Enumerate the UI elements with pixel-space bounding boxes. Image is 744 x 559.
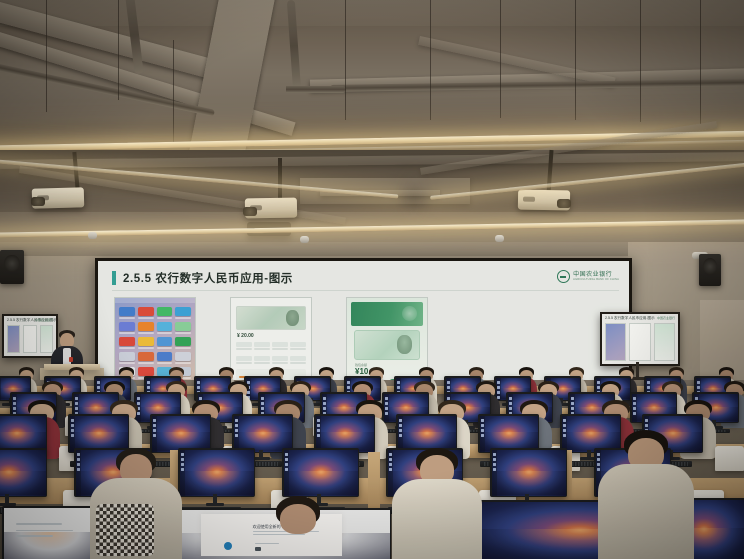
patterned-bag (96, 504, 154, 556)
monitor-screen (152, 416, 210, 452)
taskbar-icon[interactable] (71, 434, 74, 437)
taskbar-icon[interactable] (563, 429, 566, 432)
taskbar-icon[interactable] (447, 386, 450, 389)
taskbar[interactable] (0, 378, 1, 400)
taskbar-icon[interactable] (399, 424, 402, 427)
slide-title: 2.5.5 农行数字人民币应用-图示 (123, 270, 293, 286)
taskbar-icon[interactable] (509, 407, 512, 410)
taskbar-icon[interactable] (509, 397, 512, 400)
app-icon-8[interactable] (119, 337, 135, 349)
student-monitor[interactable] (0, 448, 47, 497)
bank-logo: 中国农业银行 AGRICULTURAL BANK OF CHINA (557, 270, 619, 283)
monitor-screen (398, 416, 456, 452)
taskbar-icon[interactable] (563, 419, 566, 422)
wallet-action-row (231, 339, 311, 353)
slide-divider (112, 290, 619, 291)
slide-header: 2.5.5 农行数字人民币应用-图示 (112, 269, 619, 287)
taskbar-icon[interactable] (493, 468, 496, 471)
taskbar[interactable] (316, 416, 321, 452)
taskbar-icon[interactable] (13, 397, 16, 400)
ceiling-spotlight (88, 232, 97, 239)
taskbar-icon[interactable] (399, 419, 402, 422)
monitor-screen (180, 450, 254, 496)
taskbar-icon[interactable] (481, 419, 484, 422)
monitor-screen (4, 508, 96, 559)
taskbar[interactable] (398, 416, 403, 452)
classroom-photo-scene: 2.5.5 农行数字人民币应用-图示 中国农业银行 AGRICULTURAL B… (0, 0, 744, 559)
student-monitor[interactable] (282, 448, 359, 497)
student (598, 430, 694, 559)
projector-lens (557, 199, 571, 208)
app-icon-6[interactable] (157, 322, 173, 334)
chair[interactable] (715, 446, 744, 471)
banknote-graphic (236, 306, 306, 330)
taskbar-icon[interactable] (71, 429, 74, 432)
taskbar-icon[interactable] (323, 402, 326, 405)
student (392, 448, 482, 559)
student-monitor[interactable] (178, 448, 255, 497)
taskbar-icon[interactable] (13, 402, 16, 405)
taskbar-icon[interactable] (77, 458, 80, 461)
card-header-banner (351, 302, 423, 326)
foreground-monitor[interactable] (2, 506, 97, 559)
taskbar-icon[interactable] (153, 424, 156, 427)
taskbar-icon[interactable] (71, 419, 74, 422)
app-icon-15[interactable] (175, 352, 191, 364)
taskbar[interactable] (76, 450, 81, 496)
wallet-action-row (231, 353, 311, 367)
ceiling (0, 0, 744, 150)
taskbar-icon[interactable] (647, 381, 650, 384)
taskbar-icon[interactable] (697, 386, 700, 389)
taskbar[interactable] (284, 450, 289, 496)
app-icon-4[interactable] (119, 322, 135, 334)
ceiling-spotlight (495, 235, 504, 242)
taskbar-icon[interactable] (77, 468, 80, 471)
taskbar-icon[interactable] (285, 453, 288, 456)
side-display-logo: 中国农业银行 (657, 316, 675, 320)
taskbar-icon[interactable] (571, 407, 574, 410)
taskbar[interactable] (152, 416, 157, 452)
taskbar-icon[interactable] (77, 463, 80, 466)
monitor-screen (284, 450, 358, 496)
app-icon-0[interactable] (119, 307, 135, 319)
taskbar-icon[interactable] (153, 419, 156, 422)
monitor-base (206, 503, 224, 506)
taskbar-icon[interactable] (153, 434, 156, 437)
app-icon-11[interactable] (175, 337, 191, 349)
student (258, 496, 338, 559)
taskbar-icon[interactable] (571, 402, 574, 405)
taskbar-icon[interactable] (563, 434, 566, 437)
taskbar-icon[interactable] (235, 419, 238, 422)
app-icon-2[interactable] (157, 307, 173, 319)
taskbar-icon[interactable] (261, 397, 264, 400)
taskbar-icon[interactable] (323, 407, 326, 410)
projector-mount (278, 158, 282, 202)
monitor-screen (480, 416, 538, 452)
app-icon-10[interactable] (157, 337, 173, 349)
taskbar-icon[interactable] (397, 386, 400, 389)
wall-speaker-right (699, 254, 721, 286)
portrait-icon (286, 310, 299, 326)
taskbar-icon[interactable] (493, 453, 496, 456)
taskbar-icon[interactable] (323, 397, 326, 400)
taskbar-icon[interactable] (317, 434, 320, 437)
taskbar-icon[interactable] (493, 463, 496, 466)
monitor-screen (234, 416, 292, 452)
taskbar-icon[interactable] (647, 386, 650, 389)
taskbar-icon[interactable] (509, 402, 512, 405)
taskbar[interactable] (492, 450, 497, 496)
taskbar[interactable] (562, 416, 567, 452)
taskbar-icon[interactable] (645, 424, 648, 427)
taskbar-icon[interactable] (317, 424, 320, 427)
side-display-logo: 中国农业银行 (35, 318, 53, 322)
app-icon-1[interactable] (138, 307, 154, 319)
taskbar-icon[interactable] (481, 424, 484, 427)
taskbar-icon[interactable] (563, 424, 566, 427)
taskbar-icon[interactable] (197, 381, 200, 384)
taskbar-icon[interactable] (153, 429, 156, 432)
projector-lens (243, 207, 257, 216)
taskbar-icon[interactable] (75, 407, 78, 410)
taskbar-icon[interactable] (571, 397, 574, 400)
taskbar-icon[interactable] (147, 386, 150, 389)
taskbar[interactable] (70, 416, 75, 452)
taskbar-icon[interactable] (235, 434, 238, 437)
desk-divider (368, 452, 380, 508)
taskbar-icon[interactable] (697, 381, 700, 384)
app-icon-5[interactable] (138, 322, 154, 334)
taskbar-icon[interactable] (77, 453, 80, 456)
app-icon-12[interactable] (119, 352, 135, 364)
app-icon-3[interactable] (175, 307, 191, 319)
taskbar-icon[interactable] (285, 468, 288, 471)
wall-speaker-left (0, 250, 24, 284)
taskbar-icon[interactable] (481, 429, 484, 432)
taskbar-icon[interactable] (493, 458, 496, 461)
balance-amount: ¥10.22 (355, 367, 419, 376)
monitor-screen (492, 450, 566, 496)
monitor-screen (70, 416, 128, 452)
taskbar-icon[interactable] (285, 463, 288, 466)
taskbar-icon[interactable] (317, 419, 320, 422)
abc-bank-logo-icon (557, 270, 570, 283)
taskbar-icon[interactable] (97, 386, 100, 389)
taskbar-icon[interactable] (285, 458, 288, 461)
projector-lens (31, 197, 45, 206)
taskbar-icon[interactable] (235, 424, 238, 427)
taskbar-icon[interactable] (97, 381, 100, 384)
taskbar-icon[interactable] (235, 429, 238, 432)
taskbar-icon[interactable] (645, 419, 648, 422)
title-accent-bar (112, 271, 116, 285)
digital-wallet-card (354, 330, 420, 360)
monitor-screen (316, 416, 374, 452)
app-icon-7[interactable] (175, 322, 191, 334)
app-icon-13[interactable] (138, 352, 154, 364)
student-monitor[interactable] (490, 448, 567, 497)
taskbar-icon[interactable] (75, 397, 78, 400)
taskbar-icon[interactable] (13, 407, 16, 410)
portrait-icon (397, 335, 412, 354)
taskbar-icon[interactable] (447, 381, 450, 384)
app-icon-14[interactable] (157, 352, 173, 364)
ceiling-spotlight (300, 236, 309, 243)
taskbar-icon[interactable] (397, 381, 400, 384)
taskbar[interactable] (480, 416, 485, 452)
taskbar-icon[interactable] (261, 407, 264, 410)
presenter-badge (69, 357, 73, 362)
taskbar-icon[interactable] (261, 402, 264, 405)
taskbar-icon[interactable] (197, 386, 200, 389)
taskbar-icon[interactable] (317, 429, 320, 432)
right-wall-display[interactable]: 2.5.5 农行数字人民币应用-图示 中国农业银行 (600, 312, 680, 366)
taskbar-icon[interactable] (399, 434, 402, 437)
taskbar-icon[interactable] (481, 434, 484, 437)
bank-subtitle: AGRICULTURAL BANK OF CHINA (573, 278, 619, 281)
app-icon-9[interactable] (138, 337, 154, 349)
side-display-title: 2.5.5 农行数字人民币应用-图示 (605, 316, 655, 321)
taskbar-icon[interactable] (399, 429, 402, 432)
taskbar[interactable] (234, 416, 239, 452)
monitor-screen (0, 416, 46, 452)
taskbar-icon[interactable] (71, 424, 74, 427)
student (90, 448, 182, 559)
taskbar-icon[interactable] (147, 381, 150, 384)
taskbar-icon[interactable] (75, 402, 78, 405)
monitor-screen (0, 450, 46, 496)
